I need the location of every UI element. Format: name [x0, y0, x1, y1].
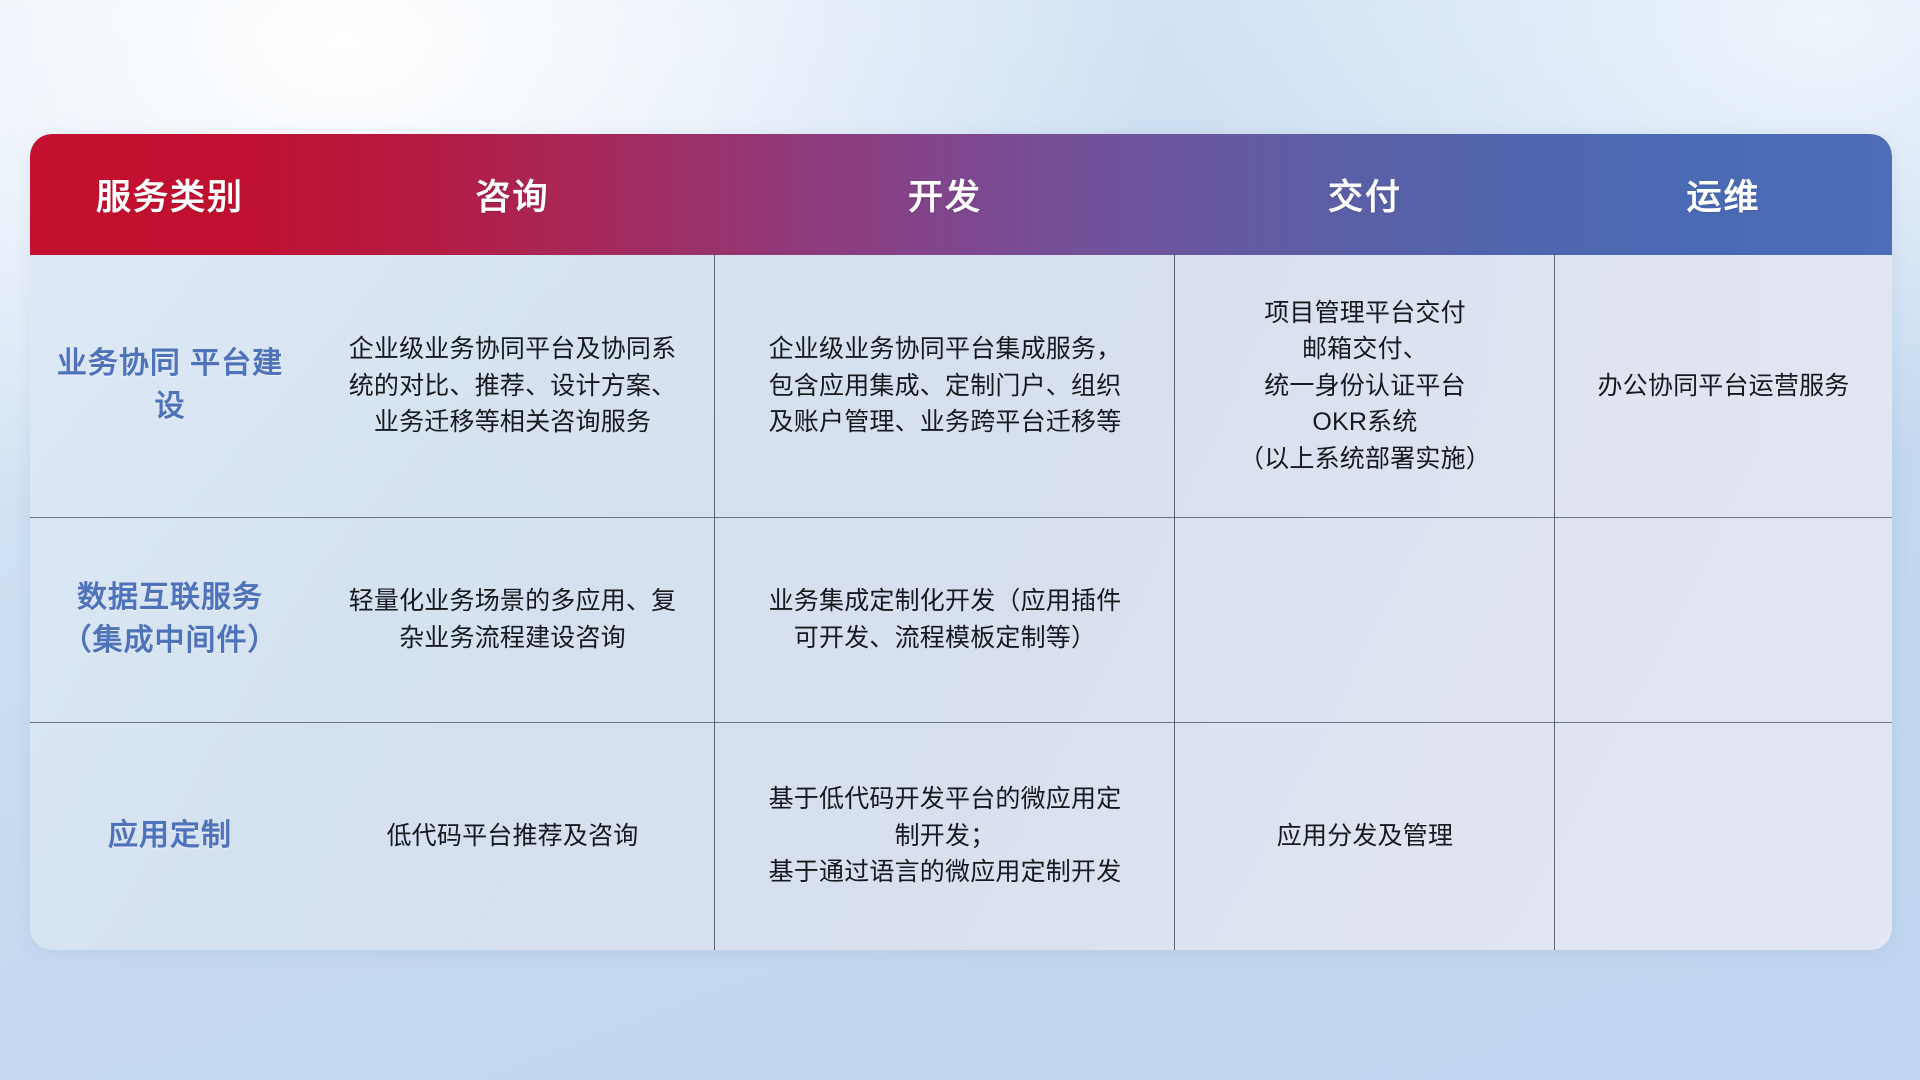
cell-operations: 办公协同平台运营服务	[1555, 255, 1892, 517]
cell-development: 企业级业务协同平台集成服务， 包含应用集成、定制门户、组织 及账户管理、业务跨平…	[715, 255, 1175, 517]
row-label-text: 数据互联服务 （集成中间件）	[46, 577, 294, 662]
cell-development-text: 企业级业务协同平台集成服务， 包含应用集成、定制门户、组织 及账户管理、业务跨平…	[769, 331, 1122, 441]
table-header-development-label: 开发	[908, 169, 982, 220]
cell-development: 基于低代码开发平台的微应用定 制开发； 基于通过语言的微应用定制开发	[715, 722, 1175, 950]
table-header-operations: 运维	[1555, 134, 1892, 255]
cell-delivery-text: 项目管理平台交付 邮箱交付、 统一身份认证平台 OKR系统 （以上系统部署实施）	[1239, 295, 1491, 478]
cell-consulting: 轻量化业务场景的多应用、复 杂业务流程建设咨询	[310, 517, 715, 722]
table-header-consulting-label: 咨询	[475, 169, 549, 220]
cell-consulting: 企业级业务协同平台及协同系 统的对比、推荐、设计方案、 业务迁移等相关咨询服务	[310, 255, 715, 517]
cell-delivery: 应用分发及管理	[1175, 722, 1555, 950]
cell-operations-text: 办公协同平台运营服务	[1597, 368, 1849, 405]
cell-delivery: 项目管理平台交付 邮箱交付、 统一身份认证平台 OKR系统 （以上系统部署实施）	[1175, 255, 1555, 517]
table-row: 应用定制 低代码平台推荐及咨询 基于低代码开发平台的微应用定 制开发； 基于通过…	[30, 722, 1892, 950]
row-label-cell: 数据互联服务 （集成中间件）	[30, 517, 310, 722]
cell-consulting: 低代码平台推荐及咨询	[310, 722, 715, 950]
table-header-service-category: 服务类别	[30, 134, 310, 255]
cell-consulting-text: 企业级业务协同平台及协同系 统的对比、推荐、设计方案、 业务迁移等相关咨询服务	[349, 331, 677, 441]
slide-canvas: 服务类别 咨询 开发 交付 运维 业务协同 平台建设	[0, 0, 1920, 1080]
table-header-consulting: 咨询	[310, 134, 715, 255]
cell-operations	[1555, 517, 1892, 722]
row-label-cell: 业务协同 平台建设	[30, 255, 310, 517]
cell-operations	[1555, 722, 1892, 950]
cell-consulting-text: 轻量化业务场景的多应用、复 杂业务流程建设咨询	[349, 583, 677, 656]
table-header-delivery: 交付	[1175, 134, 1555, 255]
table-header-development: 开发	[715, 134, 1175, 255]
cell-development: 业务集成定制化开发（应用插件 可开发、流程模板定制等）	[715, 517, 1175, 722]
row-label-cell: 应用定制	[30, 722, 310, 950]
service-matrix-table: 服务类别 咨询 开发 交付 运维 业务协同 平台建设	[30, 134, 1892, 950]
cell-consulting-text: 低代码平台推荐及咨询	[386, 818, 638, 855]
table-header-row: 服务类别 咨询 开发 交付 运维	[30, 134, 1892, 255]
cell-delivery	[1175, 517, 1555, 722]
table-header-delivery-label: 交付	[1328, 169, 1402, 220]
table-header-service-category-label: 服务类别	[96, 169, 244, 220]
row-label-text: 业务协同 平台建设	[46, 343, 294, 428]
cell-development-text: 基于低代码开发平台的微应用定 制开发； 基于通过语言的微应用定制开发	[769, 781, 1122, 891]
table-header-operations-label: 运维	[1686, 169, 1760, 220]
table-row: 数据互联服务 （集成中间件） 轻量化业务场景的多应用、复 杂业务流程建设咨询 业…	[30, 517, 1892, 722]
table-body: 业务协同 平台建设 企业级业务协同平台及协同系 统的对比、推荐、设计方案、 业务…	[30, 255, 1892, 950]
cell-development-text: 业务集成定制化开发（应用插件 可开发、流程模板定制等）	[769, 583, 1122, 656]
row-label-text: 应用定制	[108, 815, 232, 858]
cell-delivery-text: 应用分发及管理	[1277, 818, 1453, 855]
table-row: 业务协同 平台建设 企业级业务协同平台及协同系 统的对比、推荐、设计方案、 业务…	[30, 255, 1892, 517]
